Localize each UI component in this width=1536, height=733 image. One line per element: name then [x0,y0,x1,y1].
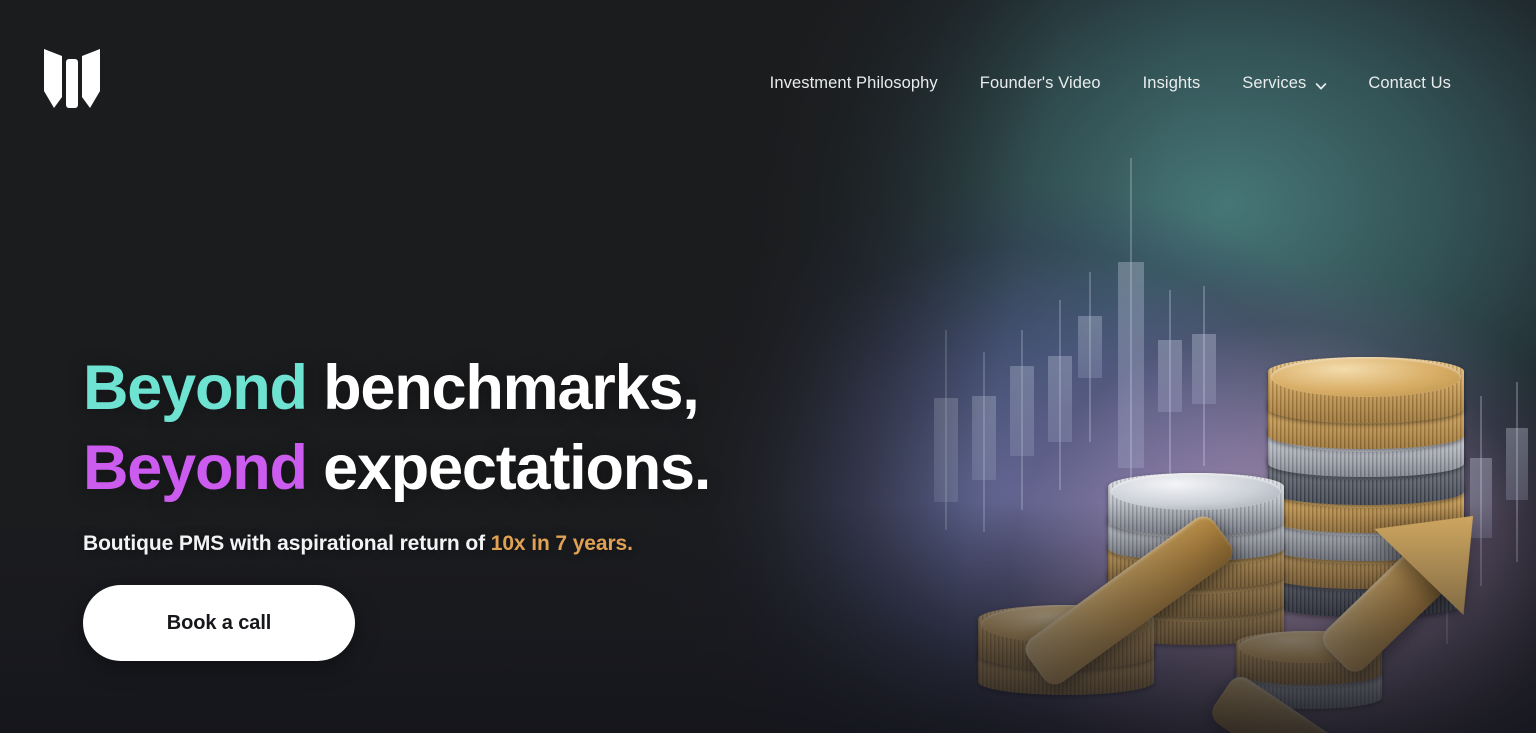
hero-subtitle-accent: 10x in 7 years. [491,532,633,555]
nav-item-founders-video[interactable]: Founder's Video [959,68,1122,99]
site-header: Investment Philosophy Founder's Video In… [0,0,1536,160]
nav-item-contact-us[interactable]: Contact Us [1347,68,1472,99]
hero-page: Investment Philosophy Founder's Video In… [0,0,1536,733]
hero-headline-rest-1: benchmarks, [307,353,699,423]
hero-subtitle: Boutique PMS with aspirational return of… [83,532,710,556]
wingspan-logo-icon[interactable] [42,47,102,109]
hero-headline-rest-2: expectations. [307,433,710,503]
nav-label: Founder's Video [980,74,1101,93]
nav-item-insights[interactable]: Insights [1122,68,1222,99]
chevron-down-icon [1315,78,1326,89]
nav-label: Insights [1143,74,1201,93]
hero-headline-accent-mint: Beyond [83,353,307,423]
hero-headline-accent-magenta: Beyond [83,433,307,503]
nav-label: Contact Us [1368,74,1451,93]
book-a-call-button[interactable]: Book a call [83,585,355,661]
nav-item-investment-philosophy[interactable]: Investment Philosophy [749,68,959,99]
hero-section: Beyond benchmarks, Beyond expectations. … [83,348,710,661]
hero-headline-line-1: Beyond benchmarks, [83,348,710,428]
nav-label: Investment Philosophy [770,74,938,93]
hero-headline-line-2: Beyond expectations. [83,428,710,508]
nav-label: Services [1242,74,1306,93]
main-navigation: Investment Philosophy Founder's Video In… [749,68,1472,99]
hero-subtitle-plain: Boutique PMS with aspirational return of [83,532,491,555]
nav-item-services[interactable]: Services [1221,68,1347,99]
